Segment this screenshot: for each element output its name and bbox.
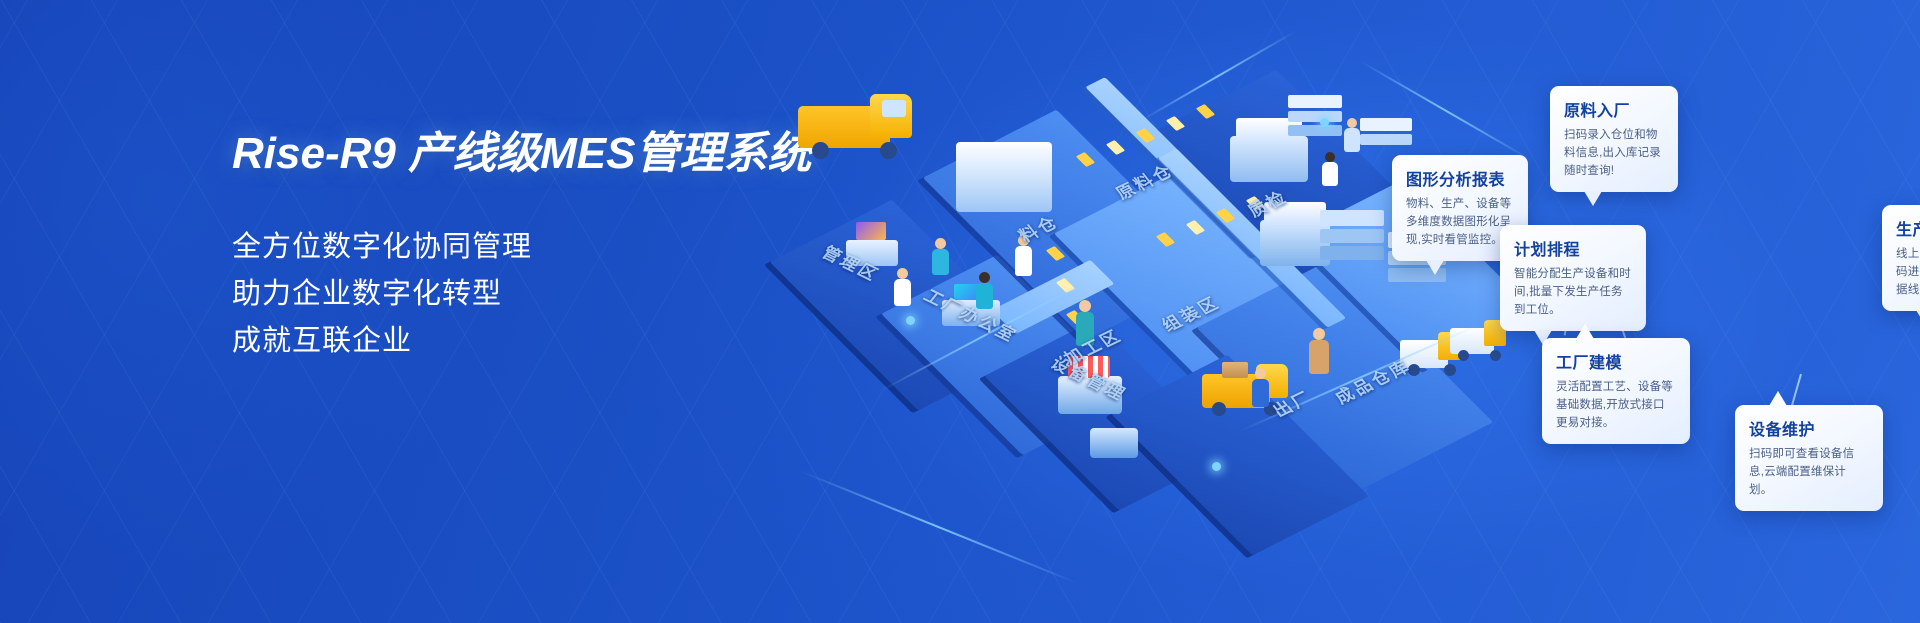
callout-leader-line	[1791, 374, 1802, 407]
machine-unit	[956, 132, 1052, 202]
product-box	[1168, 116, 1183, 131]
product-box	[1058, 278, 1073, 293]
node-indicator	[1320, 118, 1329, 127]
data-beam	[1359, 60, 1533, 162]
callout-body: 智能分配生产设备和时间,批量下发生产任务到工位。	[1514, 266, 1632, 319]
callout-title: 原料入厂	[1564, 97, 1664, 121]
callout-equipment-maintenance[interactable]: 设备维护 扫码即可查看设备信息,云端配置维保计划。	[1735, 405, 1883, 511]
node-indicator	[906, 316, 915, 325]
callout-title: 工厂建模	[1556, 349, 1676, 373]
product-box	[1188, 220, 1203, 235]
callout-pointer	[1769, 391, 1787, 406]
node-indicator	[1212, 462, 1221, 471]
subtitle-line-2: 助力企业数字化转型	[232, 271, 792, 318]
storage-rack	[1360, 118, 1412, 145]
product-box	[1078, 152, 1093, 167]
callout-pointer	[1584, 191, 1602, 206]
hero-subtitle: 全方位数字化协同管理 助力企业数字化转型 成就互联企业	[232, 224, 792, 365]
callout-planning-scheduling[interactable]: 计划排程 智能分配生产设备和时间,批量下发生产任务到工位。	[1500, 225, 1646, 331]
product-box	[1138, 128, 1153, 143]
callout-production-execution[interactable]: 生产执行 线上即可接单、报工,扫码进行投产,生产效率数据线上直接看。	[1882, 205, 1920, 311]
equipment-kiosk	[1058, 358, 1122, 414]
callout-title: 图形分析报表	[1406, 166, 1514, 190]
subtitle-line-3: 成就互联企业	[232, 318, 792, 365]
hero-banner: Rise-R9 产线级MES管理系统 全方位数字化协同管理 助力企业数字化转型 …	[0, 0, 1920, 623]
product-box	[1108, 140, 1123, 155]
product-box	[1198, 104, 1213, 119]
hero-copy: Rise-R9 产线级MES管理系统 全方位数字化协同管理 助力企业数字化转型 …	[232, 130, 792, 365]
page-title: Rise-R9 产线级MES管理系统	[232, 130, 792, 178]
callout-body: 物料、生产、设备等多维度数据图形化呈现,实时看管监控。	[1406, 196, 1514, 249]
callout-title: 设备维护	[1749, 416, 1869, 440]
storage-rack	[1320, 210, 1384, 260]
service-booth	[1090, 418, 1138, 458]
subtitle-line-1: 全方位数字化协同管理	[232, 224, 792, 271]
callout-pointer	[1916, 310, 1920, 325]
callout-factory-modeling[interactable]: 工厂建模 灵活配置工艺、设备等基础数据,开放式接口更易对接。	[1542, 338, 1690, 444]
callout-title: 计划排程	[1514, 236, 1632, 260]
data-beam	[799, 470, 1078, 584]
callout-body: 扫码即可查看设备信息,云端配置维保计划。	[1749, 446, 1869, 499]
product-box	[1158, 232, 1173, 247]
isometric-factory-illustration: 管理区 工厂办公室 设备管理 加工区 组装区 原料仓 料仓 质检 成品仓库 出厂…	[760, 0, 1920, 623]
callout-raw-material-inbound[interactable]: 原料入厂 扫码录入仓位和物料信息,出入库记录随时查询!	[1550, 86, 1678, 192]
product-box	[1218, 208, 1233, 223]
callout-body: 扫码录入仓位和物料信息,出入库记录随时查询!	[1564, 127, 1664, 180]
callout-body: 线上即可接单、报工,扫码进行投产,生产效率数据线上直接看。	[1896, 246, 1920, 299]
callout-body: 灵活配置工艺、设备等基础数据,开放式接口更易对接。	[1556, 379, 1676, 432]
product-box	[1048, 246, 1063, 261]
callout-title: 生产执行	[1896, 216, 1920, 240]
storage-rack	[1288, 95, 1342, 136]
office-desk	[846, 228, 898, 268]
callout-pointer	[1426, 260, 1444, 275]
callout-pointer	[1576, 324, 1594, 339]
